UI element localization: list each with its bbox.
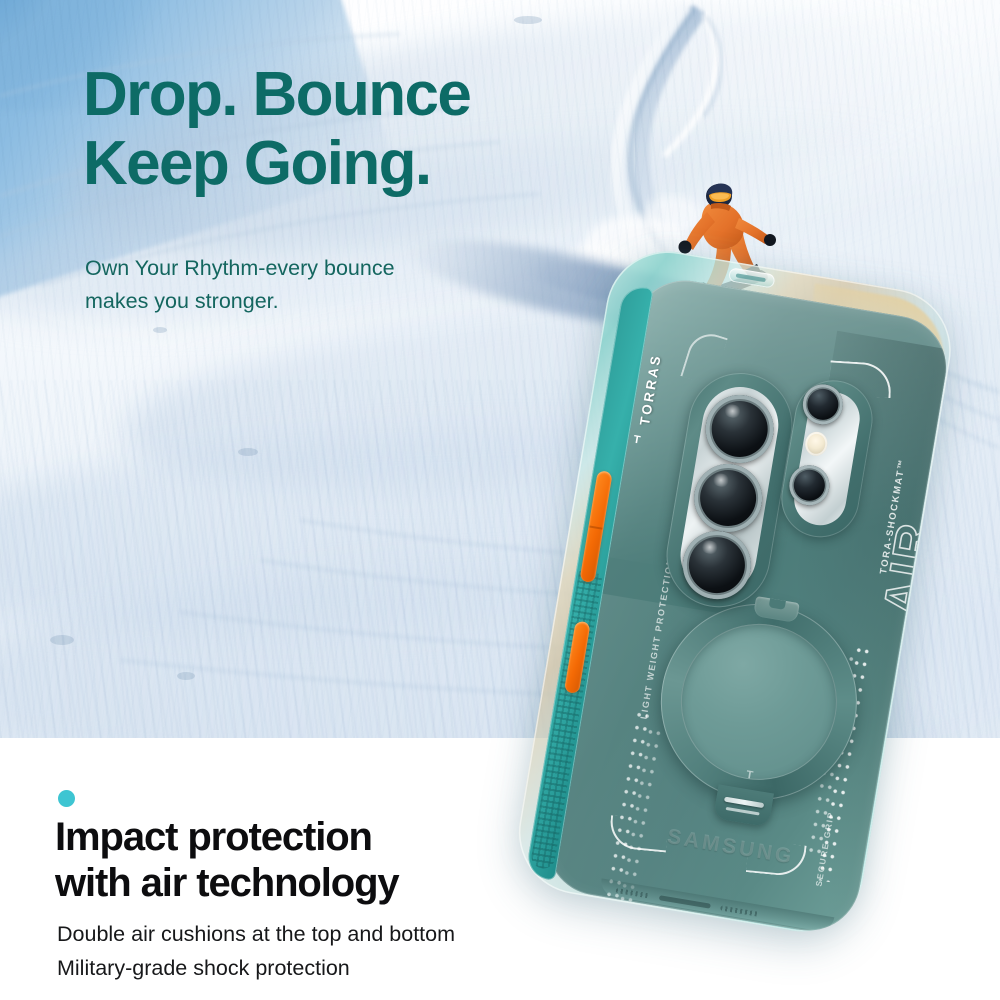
hero-subheadline-line2: makes you stronger. [85,285,505,318]
hero-headline-line2: Keep Going. [83,129,643,198]
secondary-lens-module [775,374,878,543]
feature-title-line1: Impact protection [55,814,575,860]
kickstand-hinge-secondary [726,807,760,816]
hero-headline-line1: Drop. Bounce [83,60,643,129]
product-marketing-image: Drop. Bounce Keep Going. Own Your Rhythm… [0,0,1000,1000]
volume-button-divider [589,526,602,530]
camera-module [650,354,889,634]
hero-headline: Drop. Bounce Keep Going. [83,60,643,199]
hero-subheadline-line1: Own Your Rhythm-every bounce [85,252,505,285]
case-top-port [728,267,776,288]
hero-subheadline: Own Your Rhythm-every bounce makes you s… [85,252,505,317]
case-top-port-slot [736,273,766,282]
case-back-panel: SAMSUNG TORA-SHOCKMAT™ AIR SECURE GRIP L… [539,273,953,939]
feature-description: Double air cushions at the top and botto… [57,918,617,986]
feature-description-line2: Military-grade shock protection [57,952,617,986]
feature-description-line1: Double air cushions at the top and botto… [57,918,617,952]
ring-brand-mark: T [739,768,759,787]
kickstand-hinge [724,797,764,809]
ring-inner-disc [669,612,849,792]
bullet-dot-icon [58,790,75,807]
